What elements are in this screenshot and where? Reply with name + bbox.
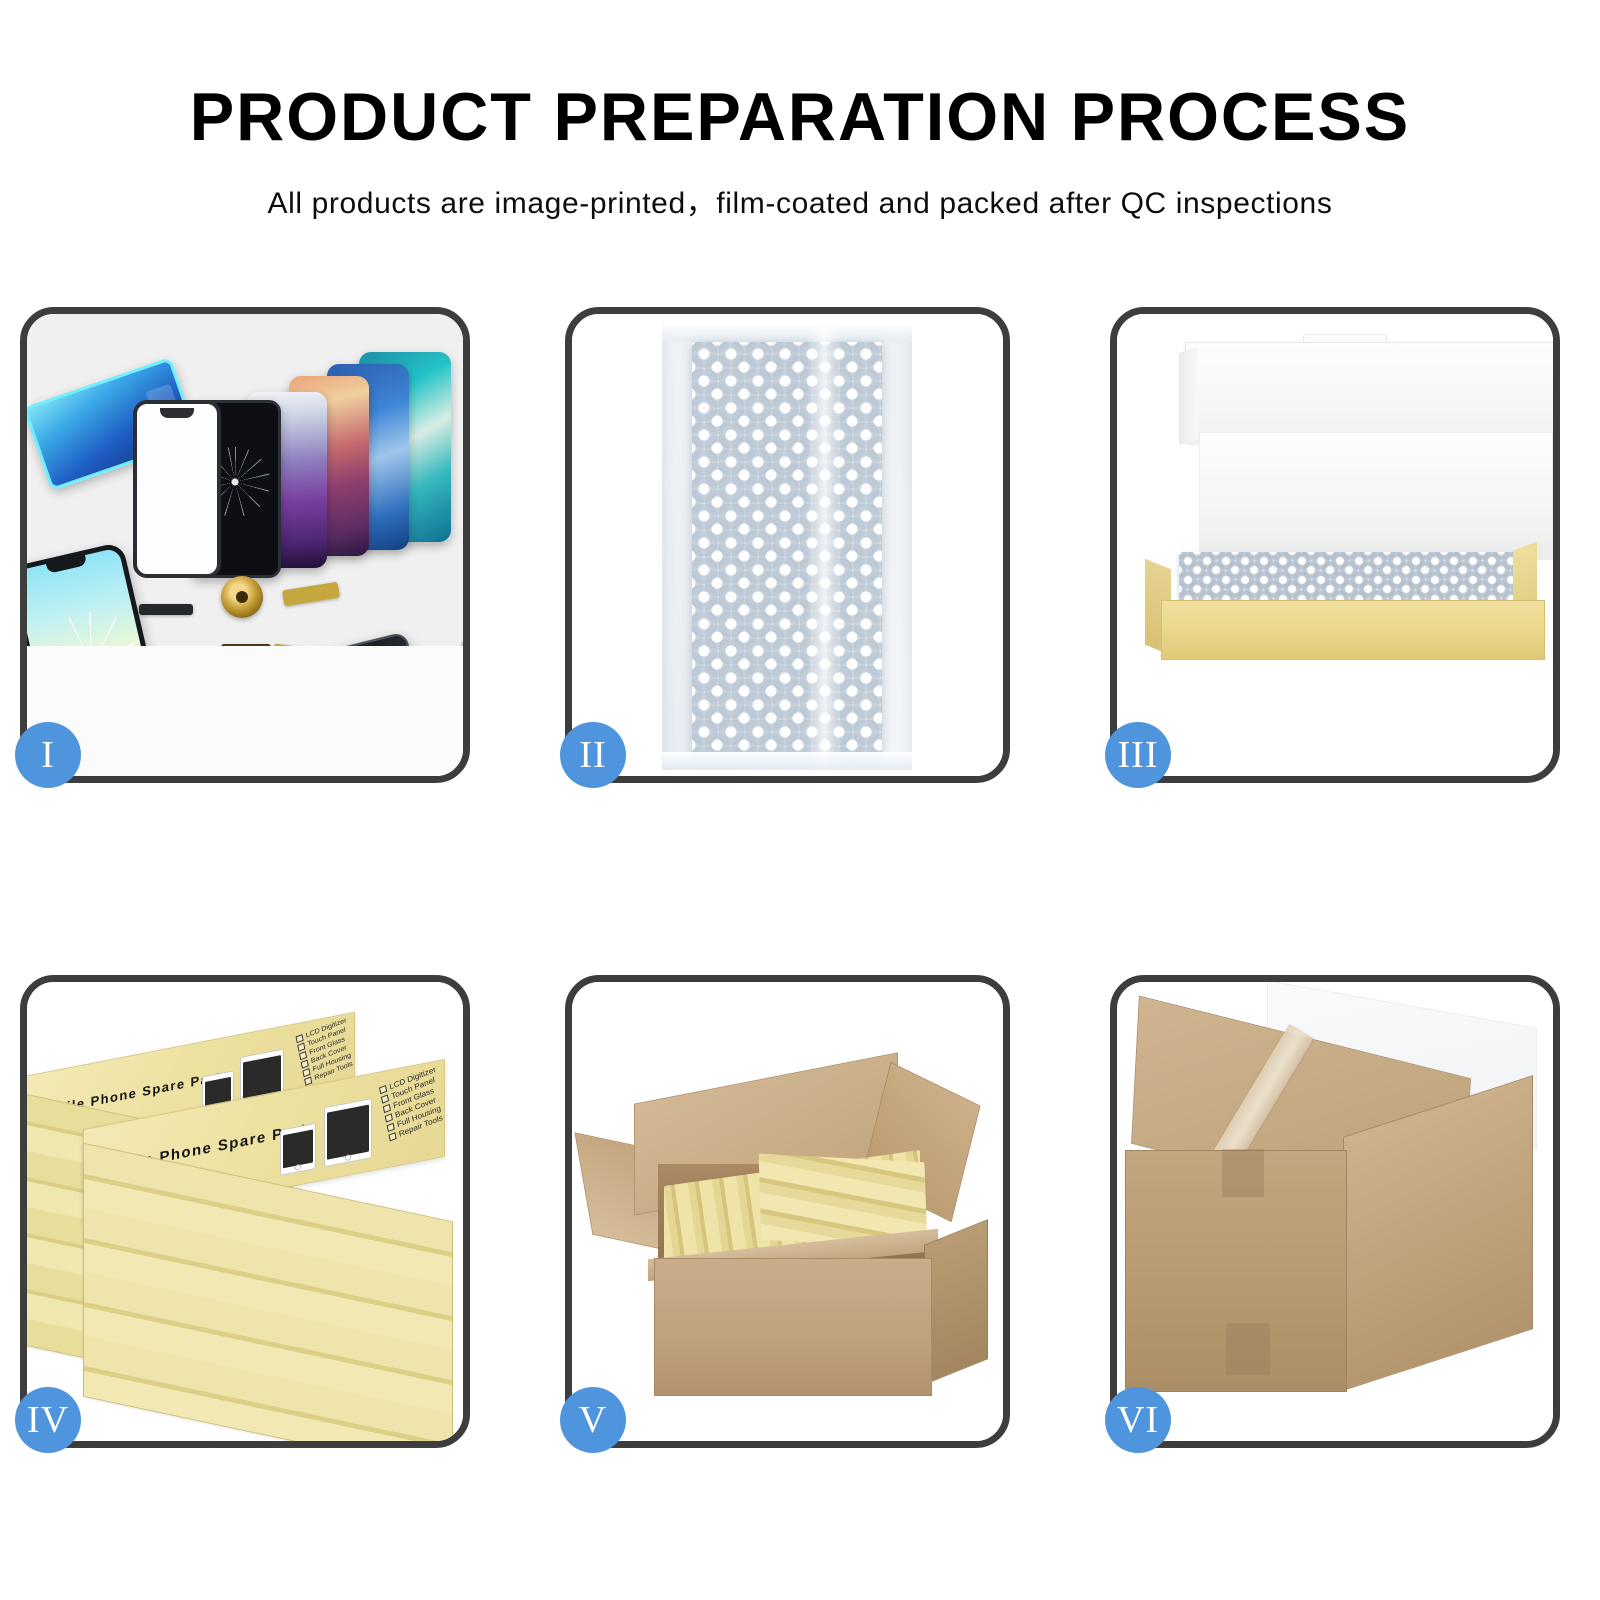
box-lid-open — [1185, 342, 1553, 444]
retail-box-stack-front — [83, 1143, 453, 1441]
bubble-wrap-scene — [572, 314, 1003, 776]
bubble-wrap-pouch — [662, 324, 912, 770]
speaker-part — [211, 702, 229, 718]
product-preparation-infographic: PRODUCT PREPARATION PROCESS All products… — [0, 0, 1600, 1600]
pouch-seal-top — [662, 324, 912, 342]
retail-box-checklist-rear: LCD Digitizer Touch Panel Front Glass Ba… — [295, 1016, 355, 1087]
page-title: PRODUCT PREPARATION PROCESS — [16, 0, 1584, 156]
camera-bump-icon — [360, 654, 410, 701]
step-badge-5: V — [560, 1387, 626, 1453]
box-screen-small-front — [280, 1123, 316, 1176]
step-card-5-image — [572, 982, 1003, 1441]
retail-box-checklist-front: LCD Digitizer Touch Panel Front Glass Ba… — [379, 1065, 445, 1143]
front-glass-pane — [133, 400, 221, 578]
step-card-2: II — [565, 307, 1010, 783]
sim-tray-part — [179, 712, 197, 742]
carton-front-panel — [654, 1258, 932, 1396]
carton-side-panel — [924, 1219, 988, 1385]
flex-cable-part-2 — [272, 643, 339, 667]
camera-module-part — [177, 658, 217, 678]
cleaning-brush-tool — [402, 627, 463, 731]
step-card-1: I — [20, 307, 470, 783]
step-card-5: V — [565, 975, 1010, 1448]
pouch-sheen — [807, 324, 841, 770]
bubble-grid — [692, 342, 882, 754]
retail-box-screens-front — [280, 1093, 376, 1176]
connector-part-2 — [223, 722, 259, 744]
step-card-6: VI — [1110, 975, 1560, 1448]
inner-box-scene — [1117, 314, 1553, 776]
taptic-coil-part — [221, 576, 263, 618]
box-lid-side-flap — [1179, 347, 1197, 445]
step-card-4-image: Mobile Phone Spare Parts LCD Digitizer T… — [27, 982, 463, 1441]
brush-head — [411, 672, 462, 724]
header: PRODUCT PREPARATION PROCESS All products… — [0, 0, 1600, 222]
step-badge-4: IV — [15, 1387, 81, 1453]
carton-flap-tab-upper — [1222, 1149, 1264, 1197]
step-badge-6: VI — [1105, 1387, 1171, 1453]
flex-cable-part-3 — [188, 660, 233, 693]
page-subtitle: All products are image-printed，film-coat… — [0, 156, 1600, 222]
battery-icon — [305, 703, 366, 749]
back-housing — [273, 631, 432, 773]
flex-cable-part-1 — [282, 582, 340, 607]
box-inner-liner — [1199, 432, 1553, 560]
step-card-4: Mobile Phone Spare Parts LCD Digitizer T… — [20, 975, 470, 1448]
vibrator-part — [285, 686, 307, 710]
boxed-stacks-scene: Mobile Phone Spare Parts LCD Digitizer T… — [27, 982, 463, 1441]
step-card-6-image — [1117, 982, 1553, 1441]
box-front-panel — [1161, 600, 1545, 660]
step-badge-2: II — [560, 722, 626, 788]
connector-part-1 — [245, 696, 279, 709]
carton-flap-tab-lower — [1226, 1323, 1270, 1375]
step-card-1-image — [27, 314, 463, 776]
sealed-carton-front — [1125, 1150, 1347, 1392]
ic-chip-part — [221, 644, 271, 690]
brush-handle — [439, 638, 463, 690]
step-card-2-image — [572, 314, 1003, 776]
earpiece-mesh-part — [139, 604, 193, 615]
step-card-3-image — [1117, 314, 1553, 776]
sealed-carton-scene — [1117, 982, 1553, 1441]
box-screen-large-front — [324, 1098, 372, 1167]
bubble-wrapped-product — [1179, 552, 1533, 606]
step-badge-3: III — [1105, 722, 1171, 788]
carton-filling-scene — [572, 982, 1003, 1441]
pouch-seal-bottom — [662, 752, 912, 770]
step-badge-1: I — [15, 722, 81, 788]
products-overview-scene — [27, 314, 463, 776]
screws-part — [424, 716, 456, 740]
step-card-3: III — [1110, 307, 1560, 783]
